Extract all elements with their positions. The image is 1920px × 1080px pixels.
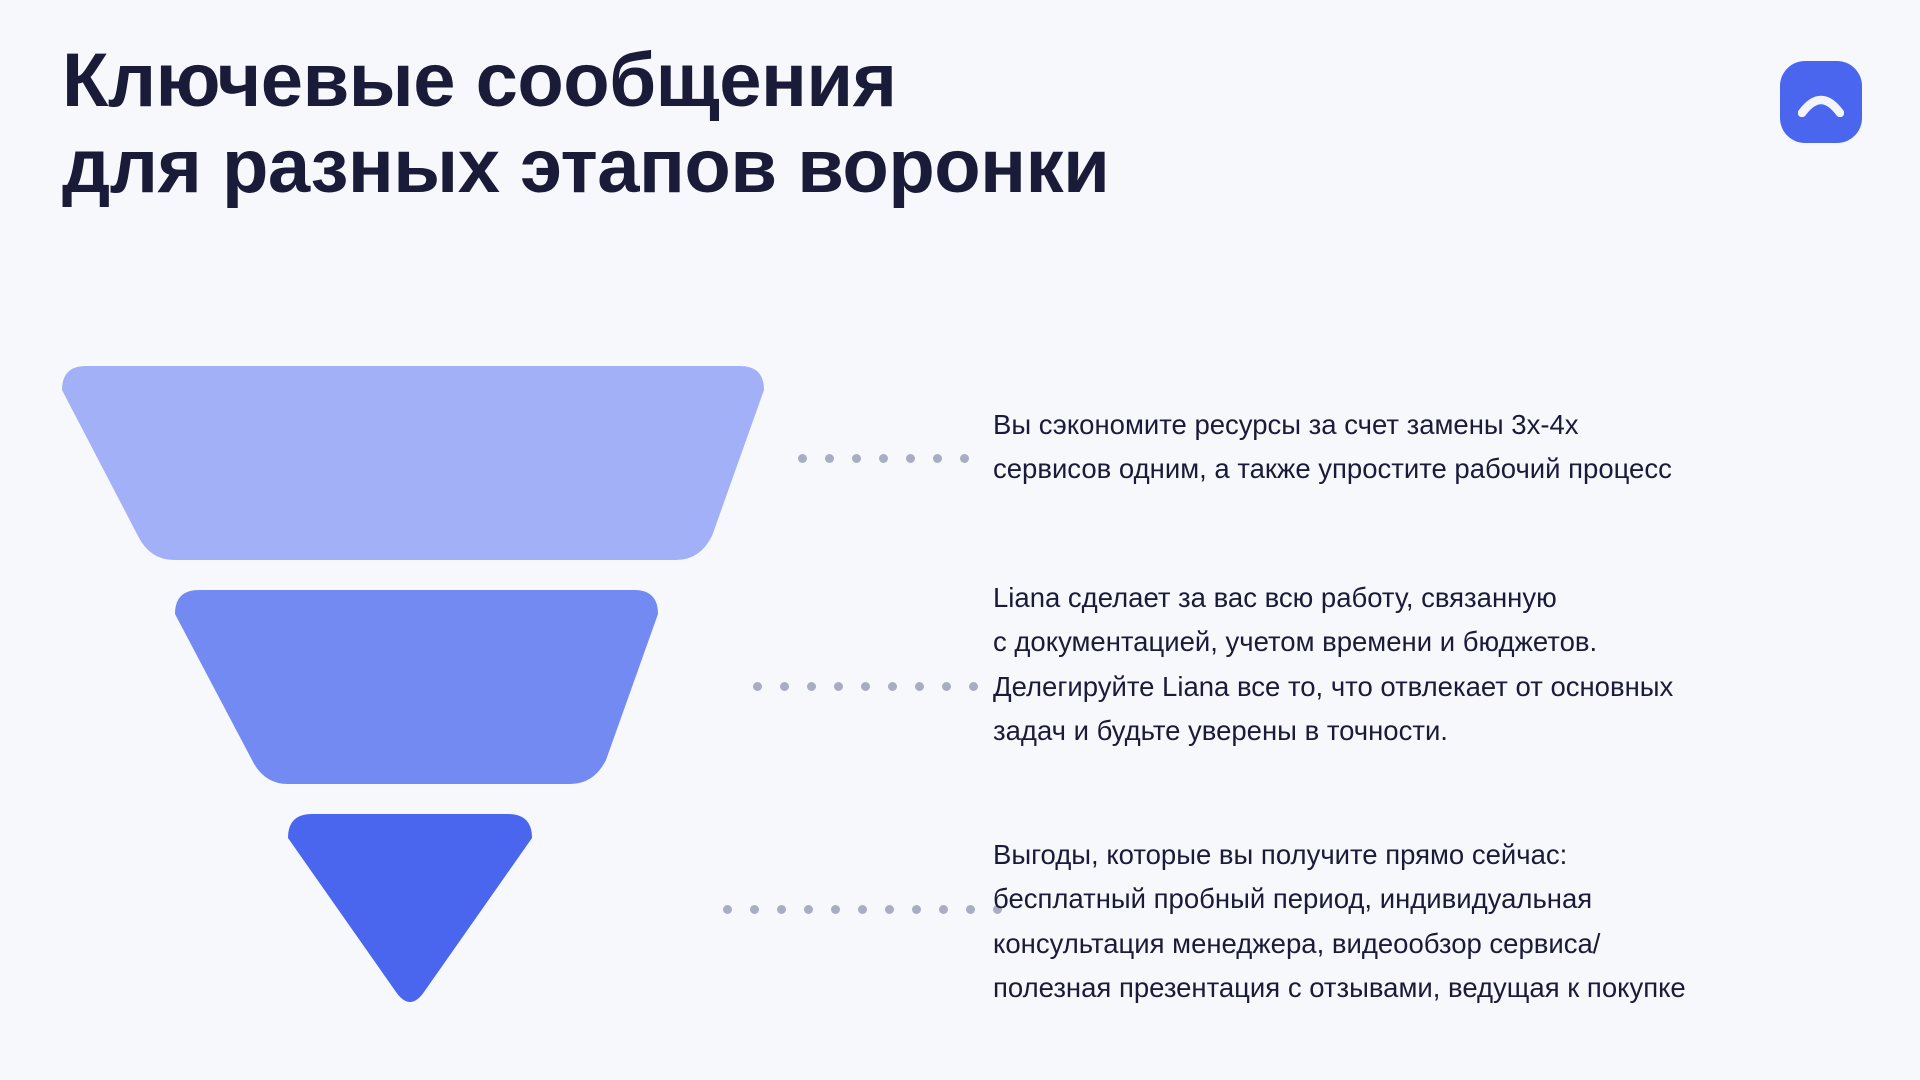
message-list: Вы сэкономите ресурсы за счет замены 3x-… xyxy=(993,0,1873,1080)
message-stage-2: Liana сделает за вас всю работу, связанн… xyxy=(993,576,1873,754)
message-stage-3: Выгоды, которые вы получите прямо сейчас… xyxy=(993,833,1873,1011)
connector-dot xyxy=(888,682,897,691)
connector-dot xyxy=(966,905,975,914)
connector-dot xyxy=(939,905,948,914)
connector-dot xyxy=(807,682,816,691)
funnel-graphic xyxy=(0,340,820,1020)
connector-dot xyxy=(861,682,870,691)
connector-stage-2 xyxy=(753,680,978,692)
connector-dot xyxy=(912,905,921,914)
connector-dot xyxy=(852,454,861,463)
connector-dot xyxy=(825,454,834,463)
connector-dot xyxy=(960,454,969,463)
connector-dot xyxy=(831,905,840,914)
connector-dot xyxy=(933,454,942,463)
connector-dot xyxy=(723,905,732,914)
connector-dot xyxy=(915,682,924,691)
connector-dot xyxy=(879,454,888,463)
connector-dot xyxy=(834,682,843,691)
connector-dot xyxy=(798,454,807,463)
message-stage-1: Вы сэкономите ресурсы за счет замены 3x-… xyxy=(993,403,1873,492)
connector-stage-1 xyxy=(798,452,969,464)
funnel-stage-3 xyxy=(288,814,532,1002)
funnel-stage-1 xyxy=(62,366,764,560)
connector-dot xyxy=(858,905,867,914)
connector-dot xyxy=(804,905,813,914)
connector-dot xyxy=(906,454,915,463)
slide-root: Ключевые сообщения для разных этапов вор… xyxy=(0,0,1920,1080)
funnel-stage-2 xyxy=(175,590,658,784)
connector-stage-3 xyxy=(723,903,1002,915)
connector-dot xyxy=(777,905,786,914)
connector-dot xyxy=(753,682,762,691)
connector-dot xyxy=(780,682,789,691)
connector-dot xyxy=(750,905,759,914)
connector-dot xyxy=(885,905,894,914)
connector-dot xyxy=(969,682,978,691)
connector-dot xyxy=(942,682,951,691)
